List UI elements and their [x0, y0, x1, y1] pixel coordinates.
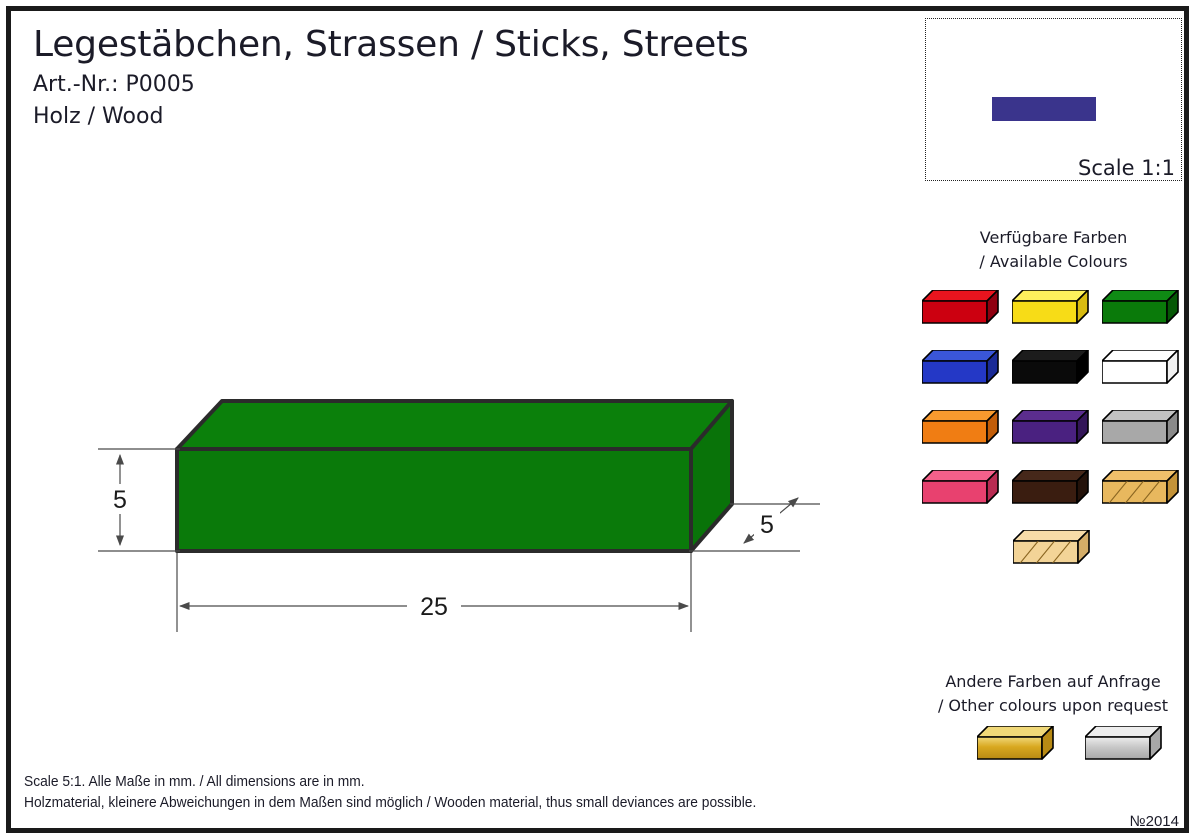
footer-scale-note: Scale 5:1. Alle Maße in mm. / All dimens… [24, 771, 926, 792]
swatch-top-face [922, 290, 998, 301]
swatch-top-face [922, 470, 998, 481]
colour-swatch-purple[interactable] [1008, 410, 1098, 450]
colour-swatch-row [918, 530, 1190, 590]
colour-swatch-row [918, 290, 1190, 350]
swatch-graphic [1102, 470, 1180, 504]
request-swatch-row [960, 726, 1180, 766]
swatch-front-face [1012, 421, 1077, 443]
colour-swatch-dark-brown[interactable] [1008, 470, 1098, 510]
available-colours-heading-de: Verfügbare Farben [925, 226, 1182, 250]
swatch-top-face [977, 726, 1053, 737]
colour-swatch-wood-natural-dark[interactable] [1098, 470, 1188, 510]
colour-swatch-row [918, 350, 1190, 410]
swatch-block-silver [1085, 726, 1163, 760]
swatch-front-face [1102, 301, 1167, 323]
swatch-front-face [1012, 361, 1077, 383]
swatch-block-blue [922, 350, 1000, 384]
swatch-block-green [1102, 290, 1180, 324]
swatch-top-face [1012, 410, 1088, 421]
swatch-block-black [1012, 350, 1090, 384]
colour-swatch-row [918, 410, 1190, 470]
swatch-front-face [922, 421, 987, 443]
available-colours-heading: Verfügbare Farben / Available Colours [925, 226, 1182, 274]
scale-reference-swatch [992, 97, 1096, 121]
colour-swatch-wood-natural-light[interactable] [1009, 530, 1099, 570]
swatch-front-face [922, 361, 987, 383]
swatch-block-white [1102, 350, 1180, 384]
swatch-graphic [1012, 290, 1090, 324]
colour-swatch-grid [918, 290, 1190, 590]
datasheet-page: Legestäbchen, Strassen / Sticks, Streets… [0, 0, 1195, 839]
request-swatch-silver[interactable] [1085, 726, 1163, 766]
swatch-graphic [1102, 410, 1180, 444]
scale-label: Scale 1:1 [1078, 156, 1175, 180]
swatch-graphic [1102, 290, 1180, 324]
swatch-top-face [1102, 470, 1178, 481]
swatch-block-purple [1012, 410, 1090, 444]
colour-swatch-blue[interactable] [918, 350, 1008, 390]
footer-material-note: Holzmaterial, kleinere Abweichungen in d… [24, 792, 926, 813]
swatch-front-face [922, 301, 987, 323]
swatch-graphic [1012, 350, 1090, 384]
swatch-block-wood-natural-light [1013, 530, 1091, 564]
swatch-graphic [922, 290, 1000, 324]
swatch-top-face [1013, 530, 1089, 541]
swatch-front-face [1102, 361, 1167, 383]
swatch-top-face [922, 350, 998, 361]
swatch-graphic [1013, 530, 1091, 564]
swatch-front-face [1012, 481, 1077, 503]
swatch-front-face [1085, 737, 1150, 759]
colour-swatch-pink[interactable] [918, 470, 1008, 510]
swatch-front-face [1012, 301, 1077, 323]
other-colours-heading-de: Andere Farben auf Anfrage [920, 670, 1186, 694]
drawing-number: №2014 [1130, 813, 1179, 830]
title-block: Legestäbchen, Strassen / Sticks, Streets… [33, 24, 893, 130]
swatch-top-face [1012, 350, 1088, 361]
request-swatch-gold[interactable] [977, 726, 1055, 766]
swatch-block-red [922, 290, 1000, 324]
swatch-graphic [1012, 410, 1090, 444]
colour-swatch-row [918, 470, 1190, 530]
article-number: Art.-Nr.: P0005 [33, 71, 893, 98]
swatch-top-face [1012, 470, 1088, 481]
swatch-block-grey [1102, 410, 1180, 444]
page-title: Legestäbchen, Strassen / Sticks, Streets [33, 24, 893, 66]
colour-swatch-orange[interactable] [918, 410, 1008, 450]
colour-swatch-red[interactable] [918, 290, 1008, 330]
swatch-top-face [1085, 726, 1161, 737]
swatch-front-face [922, 481, 987, 503]
swatch-front-face [977, 737, 1042, 759]
swatch-top-face [1012, 290, 1088, 301]
swatch-block-pink [922, 470, 1000, 504]
colour-swatch-green[interactable] [1098, 290, 1188, 330]
other-colours-heading-en: / Other colours upon request [920, 694, 1186, 718]
swatch-block-wood-natural-dark [1102, 470, 1180, 504]
footer-notes: Scale 5:1. Alle Maße in mm. / All dimens… [24, 771, 1004, 813]
swatch-top-face [1102, 410, 1178, 421]
swatch-top-face [1102, 350, 1178, 361]
swatch-block-orange [922, 410, 1000, 444]
swatch-graphic [922, 410, 1000, 444]
swatch-block-gold [977, 726, 1055, 760]
swatch-top-face [1102, 290, 1178, 301]
swatch-graphic [1102, 350, 1180, 384]
swatch-top-face [922, 410, 998, 421]
available-colours-heading-en: / Available Colours [925, 250, 1182, 274]
swatch-graphic [1012, 470, 1090, 504]
swatch-block-dark-brown [1012, 470, 1090, 504]
swatch-front-face [1102, 421, 1167, 443]
swatch-block-yellow [1012, 290, 1090, 324]
swatch-graphic [922, 470, 1000, 504]
material-label: Holz / Wood [33, 103, 893, 130]
colour-swatch-black[interactable] [1008, 350, 1098, 390]
colour-swatch-yellow[interactable] [1008, 290, 1098, 330]
colour-swatch-white[interactable] [1098, 350, 1188, 390]
colour-swatch-grey[interactable] [1098, 410, 1188, 450]
scale-reference-box: Scale 1:1 [925, 18, 1182, 181]
swatch-graphic [922, 350, 1000, 384]
other-colours-heading: Andere Farben auf Anfrage / Other colour… [920, 670, 1186, 718]
